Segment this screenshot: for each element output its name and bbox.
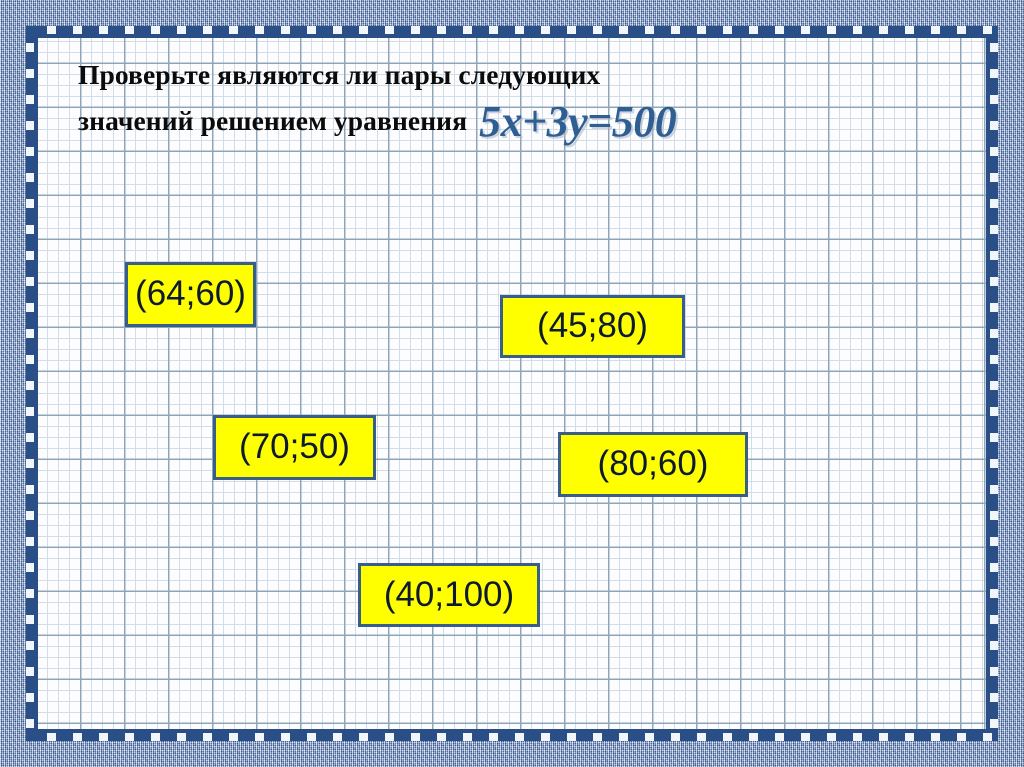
pair-box-5-label: (40;100) [384,577,514,612]
title-line-2-row: значений решением уравнения 5x+3y=500 [78,94,986,140]
pair-box-2[interactable]: (45;80) [500,295,685,358]
pair-box-3[interactable]: (70;50) [213,415,376,480]
title-block: Проверьте являются ли пары следующих зна… [78,56,986,140]
slide-canvas: Проверьте являются ли пары следующих зна… [0,0,1024,767]
pair-box-3-label: (70;50) [239,429,350,464]
title-line-2: значений решением уравнения [78,102,467,140]
pair-box-4[interactable]: (80;60) [558,432,748,497]
pair-box-4-label: (80;60) [598,446,709,481]
pair-box-1[interactable]: (64;60) [125,262,256,327]
pair-box-1-label: (64;60) [135,276,246,311]
equation-text: 5x+3y=500 [479,100,676,144]
title-line-1: Проверьте являются ли пары следующих [78,56,986,94]
pair-box-2-label: (45;80) [537,308,648,343]
pair-box-5[interactable]: (40;100) [358,563,540,627]
graph-paper-surface: Проверьте являются ли пары следующих зна… [38,38,986,729]
